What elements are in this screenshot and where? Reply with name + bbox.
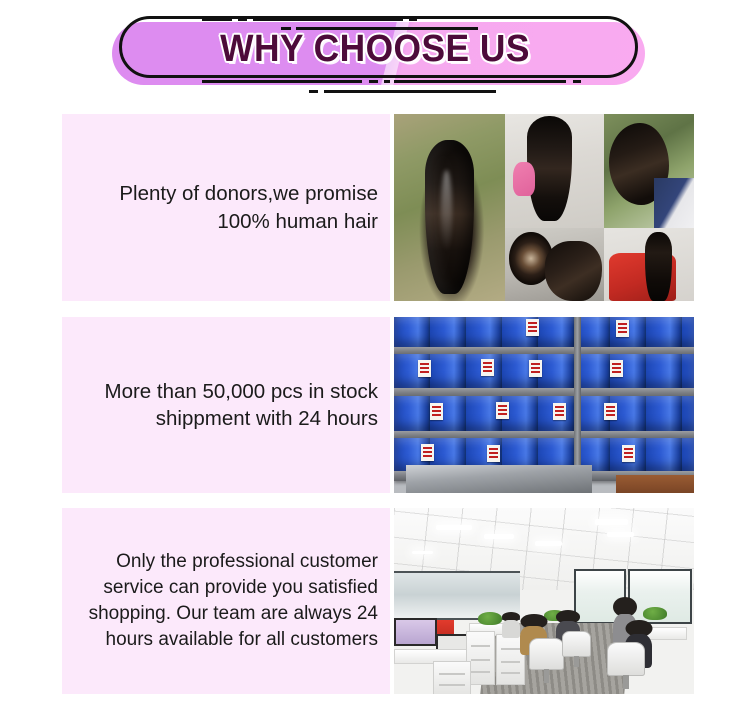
banner-deco-bottom-dash-2 <box>384 80 390 83</box>
feature-text-service: Only the professional customer service c… <box>76 549 378 654</box>
warehouse-bins <box>394 317 694 347</box>
hair-bun-photo <box>505 228 604 301</box>
warehouse-scene <box>394 317 694 493</box>
warehouse-floor <box>616 475 694 493</box>
feature-text-donors: Plenty of donors,we promise 100% human h… <box>76 180 378 235</box>
bin-label <box>430 403 443 420</box>
banner-deco-bottom-dash-1 <box>369 80 378 83</box>
office-monitor <box>394 618 437 646</box>
bin-label <box>481 359 494 376</box>
bin-label <box>529 360 542 377</box>
ceiling-lamp <box>607 532 634 537</box>
ceiling-lamp <box>484 534 514 539</box>
warehouse-bins <box>394 354 694 388</box>
bin-label <box>418 360 431 377</box>
ceiling-lamp <box>595 519 628 525</box>
banner-deco-top-dash-1 <box>202 18 232 21</box>
banner-deco-bottom-rule-2 <box>394 80 566 83</box>
feature-text-stock: More than 50,000 pcs in stock shippment … <box>76 378 378 433</box>
hair-red-shirt-photo <box>604 228 694 301</box>
ceiling-lamp <box>412 551 433 555</box>
hair-collage-photo <box>394 114 694 301</box>
office-photo <box>394 508 694 694</box>
header-banner: WHY CHOOSE US <box>0 0 750 108</box>
banner-deco-bottom-dash-4 <box>309 90 318 93</box>
banner-deco-bottom-rule-1 <box>202 80 362 83</box>
page-title: WHY CHOOSE US <box>26 28 724 71</box>
bin-label <box>622 445 635 462</box>
banner-deco-top-dash-2 <box>238 18 247 21</box>
office-chair <box>529 638 564 670</box>
warehouse-shelf-1 <box>394 317 694 356</box>
bin-label <box>604 403 617 420</box>
office-plant <box>478 612 502 625</box>
banner-deco-top-dash-3 <box>409 18 417 21</box>
warehouse-floor-parts <box>406 465 592 493</box>
office-scene <box>394 508 694 694</box>
office-cabinet <box>433 661 471 694</box>
hair-indoor-photo <box>505 114 604 228</box>
feature-row-stock: More than 50,000 pcs in stock shippment … <box>62 317 694 493</box>
bin-label <box>616 320 629 337</box>
ceiling-lamp <box>535 541 562 545</box>
bin-label <box>610 360 623 377</box>
office-chair <box>607 642 645 676</box>
feature-row-service: Only the professional customer service c… <box>62 508 694 694</box>
feature-text-panel-stock: More than 50,000 pcs in stock shippment … <box>62 317 390 493</box>
bin-label <box>487 445 500 462</box>
hair-collage <box>394 114 694 301</box>
warehouse-shelf-3 <box>394 396 694 440</box>
bin-label <box>526 319 539 336</box>
feature-text-panel-service: Only the professional customer service c… <box>62 508 390 694</box>
bin-label <box>553 403 566 420</box>
bin-label <box>496 402 509 419</box>
office-worker <box>502 612 520 638</box>
feature-text-panel-donors: Plenty of donors,we promise 100% human h… <box>62 114 390 301</box>
warehouse-shelf-2 <box>394 354 694 398</box>
warehouse-photo <box>394 317 694 493</box>
office-chair <box>562 631 591 657</box>
hair-outdoor-photo <box>394 114 505 301</box>
banner-deco-bottom-dash-3 <box>573 80 581 83</box>
bin-label <box>421 444 434 461</box>
office-plant <box>643 607 667 620</box>
worker-body <box>502 620 520 638</box>
feature-row-donors: Plenty of donors,we promise 100% human h… <box>62 114 694 301</box>
banner-deco-top-rule-1 <box>253 18 403 21</box>
ceiling-lamp <box>436 525 472 531</box>
banner-deco-bottom-rule-3 <box>324 90 496 93</box>
hair-ponytail-photo <box>604 114 694 228</box>
